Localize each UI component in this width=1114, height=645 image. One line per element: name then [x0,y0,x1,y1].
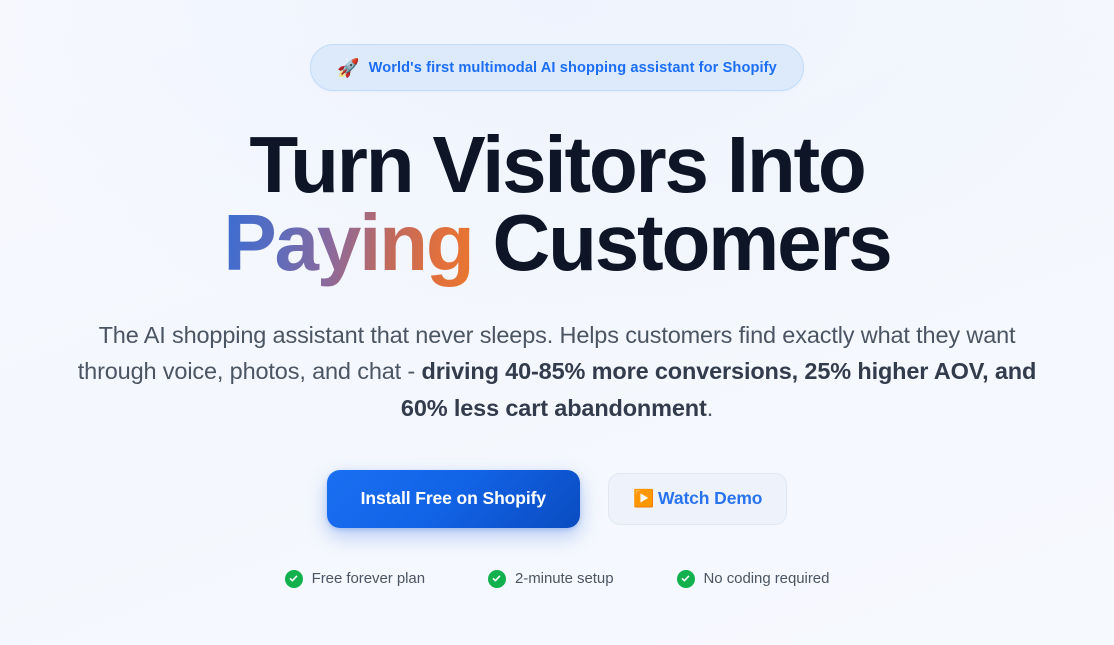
headline-line-1: Turn Visitors Into [223,126,890,204]
install-free-on-shopify-button[interactable]: Install Free on Shopify [327,470,580,528]
feature-label: No coding required [704,570,830,587]
feature-item: No coding required [677,570,830,588]
play-button-icon: ▶️ [633,490,654,507]
feature-label: Free forever plan [312,570,425,587]
check-circle-icon [677,570,695,588]
feature-item: 2-minute setup [488,570,614,588]
check-circle-icon [285,570,303,588]
subtitle-part-2: . [707,395,713,421]
watch-demo-label: Watch Demo [658,488,762,509]
page-title: Turn Visitors Into Paying Customers [223,126,890,281]
headline-line-2: Paying Customers [223,204,890,282]
headline-gradient-word: Paying [223,198,472,287]
rocket-icon: 🚀 [337,59,359,77]
feature-item: Free forever plan [285,570,425,588]
feature-label: 2-minute setup [515,570,614,587]
hero-section: 🚀 World's first multimodal AI shopping a… [0,0,1114,645]
subtitle-highlight: driving 40-85% more conversions, 25% hig… [401,358,1036,420]
headline-line-2-rest: Customers [472,198,890,287]
hero-subtitle: The AI shopping assistant that never sle… [67,317,1047,426]
announcement-badge: 🚀 World's first multimodal AI shopping a… [310,44,804,91]
announcement-badge-text: World's first multimodal AI shopping ass… [369,60,777,76]
feature-check-row: Free forever plan 2-minute setup No codi… [285,570,830,588]
watch-demo-button[interactable]: ▶️ Watch Demo [608,473,787,525]
check-circle-icon [488,570,506,588]
cta-button-row: Install Free on Shopify ▶️ Watch Demo [327,470,788,528]
